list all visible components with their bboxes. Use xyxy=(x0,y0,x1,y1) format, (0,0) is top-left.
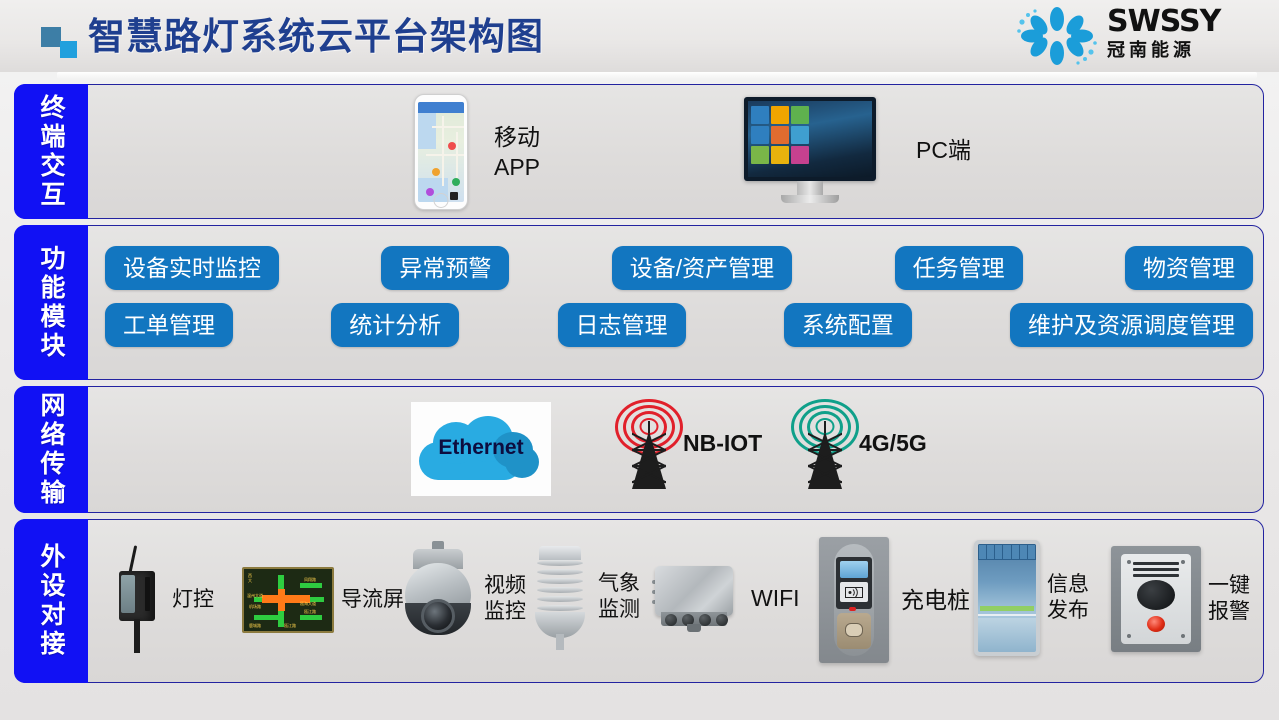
device-item-guidance-screen[interactable]: 西大 凤翔路 温州大道 瓯海大道 机场路 瓯江路 鹿城路 瓯江路 导流屏 xyxy=(242,567,404,633)
device-item-charging-pile[interactable]: 充电桩 xyxy=(819,537,970,663)
layer-device-body: 灯控 西大 凤翔路 温州大道 瓯海大道 机场路 瓯江路 xyxy=(89,520,1263,682)
layer-tab-function-label: 功能模块 xyxy=(36,245,66,361)
function-button-realtime-monitor[interactable]: 设备实时监控 xyxy=(105,246,279,290)
function-button-abnormal-alert[interactable]: 异常预警 xyxy=(381,246,509,290)
info-display-icon xyxy=(974,540,1040,656)
weather-sensor-icon xyxy=(529,544,591,650)
network-item-label: Ethernet xyxy=(411,436,551,460)
device-item-label: 信息 发布 xyxy=(1047,572,1089,624)
layer-function-body: 设备实时监控 异常预警 设备/资产管理 任务管理 物资管理 工单管理 统计分析 … xyxy=(89,226,1263,379)
decorative-square-light-icon xyxy=(60,41,77,58)
function-row-2: 工单管理 统计分析 日志管理 系统配置 维护及资源调度管理 xyxy=(105,303,1253,347)
layer-network-transmission: 网络传输 Ethernet xyxy=(14,386,1264,513)
function-row-1: 设备实时监控 异常预警 设备/资产管理 任务管理 物资管理 xyxy=(105,246,1253,290)
desktop-monitor-icon xyxy=(744,97,876,203)
device-item-label: 一键 报警 xyxy=(1208,573,1250,625)
network-item-label: NB-IOT xyxy=(683,430,762,457)
layer-function-modules: 功能模块 设备实时监控 异常预警 设备/资产管理 任务管理 物资管理 工单管理 … xyxy=(14,225,1264,380)
device-item-wifi[interactable]: WIFI xyxy=(651,562,800,634)
network-item-label: 4G/5G xyxy=(859,430,927,457)
radio-tower-icon xyxy=(785,395,865,491)
terminal-item-label: PC端 xyxy=(916,135,971,165)
layer-terminal-body: 移动 APP PC端 xyxy=(89,85,1263,218)
company-logo: SWSSY 冠南能源 xyxy=(1011,4,1261,68)
slide-header: 智慧路灯系统云平台架构图 xyxy=(0,0,1279,72)
function-button-task-management[interactable]: 任务管理 xyxy=(895,246,1023,290)
device-item-label: 气象 监测 xyxy=(598,571,640,623)
terminal-item-label: 移动 APP xyxy=(494,122,540,182)
terminal-item-mobile-app[interactable]: 移动 APP xyxy=(414,94,540,210)
function-button-asset-management[interactable]: 设备/资产管理 xyxy=(612,246,792,290)
device-item-lamp-controller[interactable]: 灯控 xyxy=(113,545,214,655)
device-item-label: 灯控 xyxy=(172,587,214,613)
network-item-nbiot[interactable]: NB-IOT xyxy=(609,395,762,491)
page-title: 智慧路灯系统云平台架构图 xyxy=(88,11,544,63)
function-button-log-management[interactable]: 日志管理 xyxy=(558,303,686,347)
function-button-statistics[interactable]: 统计分析 xyxy=(331,303,459,347)
architecture-diagram-slide: 智慧路灯系统云平台架构图 xyxy=(0,0,1279,720)
guidance-screen-icon: 西大 凤翔路 温州大道 瓯海大道 机场路 瓯江路 鹿城路 瓯江路 xyxy=(242,567,334,633)
layer-tab-network[interactable]: 网络传输 xyxy=(14,386,88,513)
radio-tower-icon xyxy=(609,395,689,491)
device-item-video-camera[interactable]: 视频 监控 xyxy=(399,547,526,651)
layer-tab-device-label: 外设对接 xyxy=(36,543,66,659)
function-button-work-order[interactable]: 工单管理 xyxy=(105,303,233,347)
rfid-icon xyxy=(845,587,863,598)
device-item-emergency-call[interactable]: 一键 报警 xyxy=(1111,546,1250,652)
smartphone-map-icon xyxy=(414,94,468,210)
layer-tab-network-label: 网络传输 xyxy=(36,392,66,508)
device-item-info-display[interactable]: 信息 发布 xyxy=(974,540,1089,656)
device-item-weather-sensor[interactable]: 气象 监测 xyxy=(529,544,640,650)
device-item-label: 充电桩 xyxy=(901,587,970,613)
network-item-ethernet[interactable]: Ethernet xyxy=(411,402,551,496)
device-item-label: 导流屏 xyxy=(341,587,404,613)
charging-pile-icon xyxy=(819,537,889,663)
function-button-maintenance-dispatch[interactable]: 维护及资源调度管理 xyxy=(1010,303,1253,347)
emergency-call-icon xyxy=(1111,546,1201,652)
decorative-square-dark-icon xyxy=(41,27,61,47)
device-item-label: 视频 监控 xyxy=(484,573,526,625)
lamp-controller-icon xyxy=(113,545,165,655)
terminal-item-pc[interactable]: PC端 xyxy=(744,97,971,203)
logo-subtitle: 冠南能源 xyxy=(1107,38,1259,62)
water-droplet-petals-icon xyxy=(1011,6,1103,66)
wifi-enclosure-icon xyxy=(651,562,737,634)
device-item-label: WIFI xyxy=(751,585,800,611)
layer-network-body: Ethernet N xyxy=(89,387,1263,512)
layer-device-interface: 外设对接 灯控 xyxy=(14,519,1264,683)
layer-tab-terminal[interactable]: 终端交互 xyxy=(14,84,88,219)
ptz-camera-icon xyxy=(399,547,477,651)
header-divider xyxy=(57,72,1257,79)
cloud-icon: Ethernet xyxy=(411,402,551,496)
function-button-system-config[interactable]: 系统配置 xyxy=(784,303,912,347)
network-item-4g5g[interactable]: 4G/5G xyxy=(785,395,927,491)
function-button-material-management[interactable]: 物资管理 xyxy=(1125,246,1253,290)
layer-tab-terminal-label: 终端交互 xyxy=(36,94,66,210)
layer-terminal-interaction: 终端交互 xyxy=(14,84,1264,219)
layer-tab-function[interactable]: 功能模块 xyxy=(14,225,88,380)
logo-name: SWSSY xyxy=(1107,6,1259,38)
layer-tab-device[interactable]: 外设对接 xyxy=(14,519,88,683)
